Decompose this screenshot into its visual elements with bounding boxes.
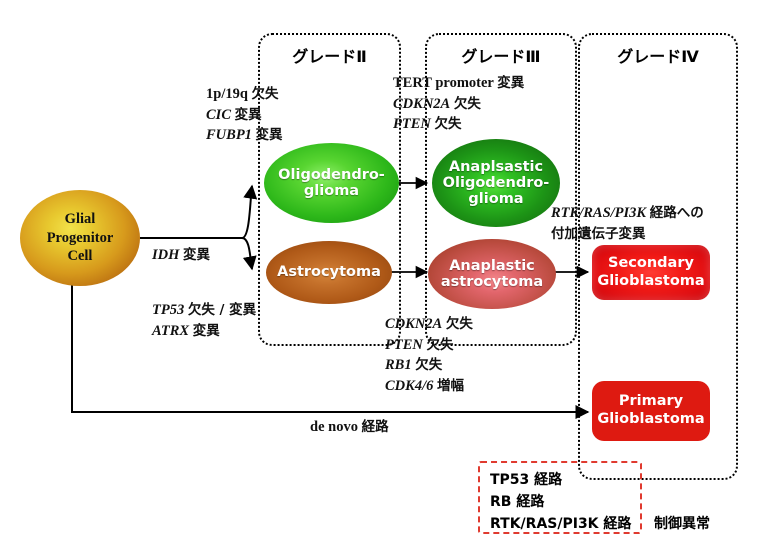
legend-item-tp53: TP53 経路: [490, 469, 562, 489]
node-oligodendroglioma[interactable]: Oligodendro- glioma: [264, 143, 399, 223]
node-glial-progenitor-cell[interactable]: Glial Progenitor Cell: [20, 190, 140, 286]
legend-item-rtk-ras-pi3k: RTK/RAS/PI3K 経路: [490, 513, 631, 533]
annotation-astro-grade3: CDKN2A 欠失 PTEN 欠失 RB1 欠失 CDK4/6 増幅: [385, 314, 473, 396]
annotation-line: CDKN2A 欠失: [385, 314, 473, 335]
node-astrocytoma-label: Astrocytoma: [277, 264, 381, 280]
glioma-pathway-diagram: グレードⅡ グレードⅢ グレードⅣ 1p/19q 欠失 CIC 変異 FUBP1: [0, 0, 757, 551]
annotation-line: 1p/19q 欠失: [206, 84, 283, 105]
annotation-oligo-grade2: 1p/19q 欠失 CIC 変異 FUBP1 変異: [206, 84, 283, 146]
node-secondary-glioblastoma[interactable]: Secondary Glioblastoma: [592, 245, 710, 300]
annotation-line: CIC 変異: [206, 105, 283, 126]
node-anaplastic-astrocytoma[interactable]: Anaplastic astrocytoma: [428, 239, 556, 309]
node-secondary-glioblastoma-label: Secondary Glioblastoma: [597, 255, 704, 290]
annotation-line: PTEN 欠失: [393, 114, 524, 135]
annotation-line: TP53 欠失 / 変異: [152, 300, 256, 321]
node-anaplastic-oligodendroglioma[interactable]: Anaplsastic Oligodendro- glioma: [432, 139, 560, 227]
edge-label-de-novo: de novo 経路: [310, 415, 389, 436]
annotation-line: PTEN 欠失: [385, 335, 473, 356]
annotation-line: TERT promoter 変異: [393, 73, 524, 94]
legend-suffix-label: 制御異常: [654, 513, 710, 533]
edge-label-idh: IDH 変異: [152, 243, 210, 264]
annotation-line: RB1 欠失: [385, 355, 473, 376]
annotation-oligo-grade3: TERT promoter 変異 CDKN2A 欠失 PTEN 欠失: [393, 73, 524, 135]
node-glial-progenitor-cell-label: Glial Progenitor Cell: [47, 210, 114, 267]
node-primary-glioblastoma[interactable]: Primary Glioblastoma: [592, 381, 710, 441]
annotation-line: CDK4/6 増幅: [385, 376, 473, 397]
node-primary-glioblastoma-label: Primary Glioblastoma: [597, 393, 704, 428]
annotation-line: 付加遺伝子変異: [551, 224, 704, 245]
node-oligodendroglioma-label: Oligodendro- glioma: [278, 167, 385, 199]
node-anaplastic-oligodendroglioma-label: Anaplsastic Oligodendro- glioma: [443, 159, 550, 208]
annotation-line: CDKN2A 欠失: [393, 94, 524, 115]
annotation-line: RTK/RAS/PI3K 経路への: [551, 203, 704, 224]
legend-item-rb: RB 経路: [490, 491, 544, 511]
annotation-line: FUBP1 変異: [206, 125, 283, 146]
node-astrocytoma[interactable]: Astrocytoma: [266, 241, 392, 304]
node-anaplastic-astrocytoma-label: Anaplastic astrocytoma: [441, 258, 543, 290]
annotation-astro-grade2: TP53 欠失 / 変異 ATRX 変異: [152, 300, 256, 341]
annotation-to-glioblastoma: RTK/RAS/PI3K 経路への 付加遺伝子変異: [551, 203, 704, 244]
annotation-line: ATRX 変異: [152, 321, 256, 342]
